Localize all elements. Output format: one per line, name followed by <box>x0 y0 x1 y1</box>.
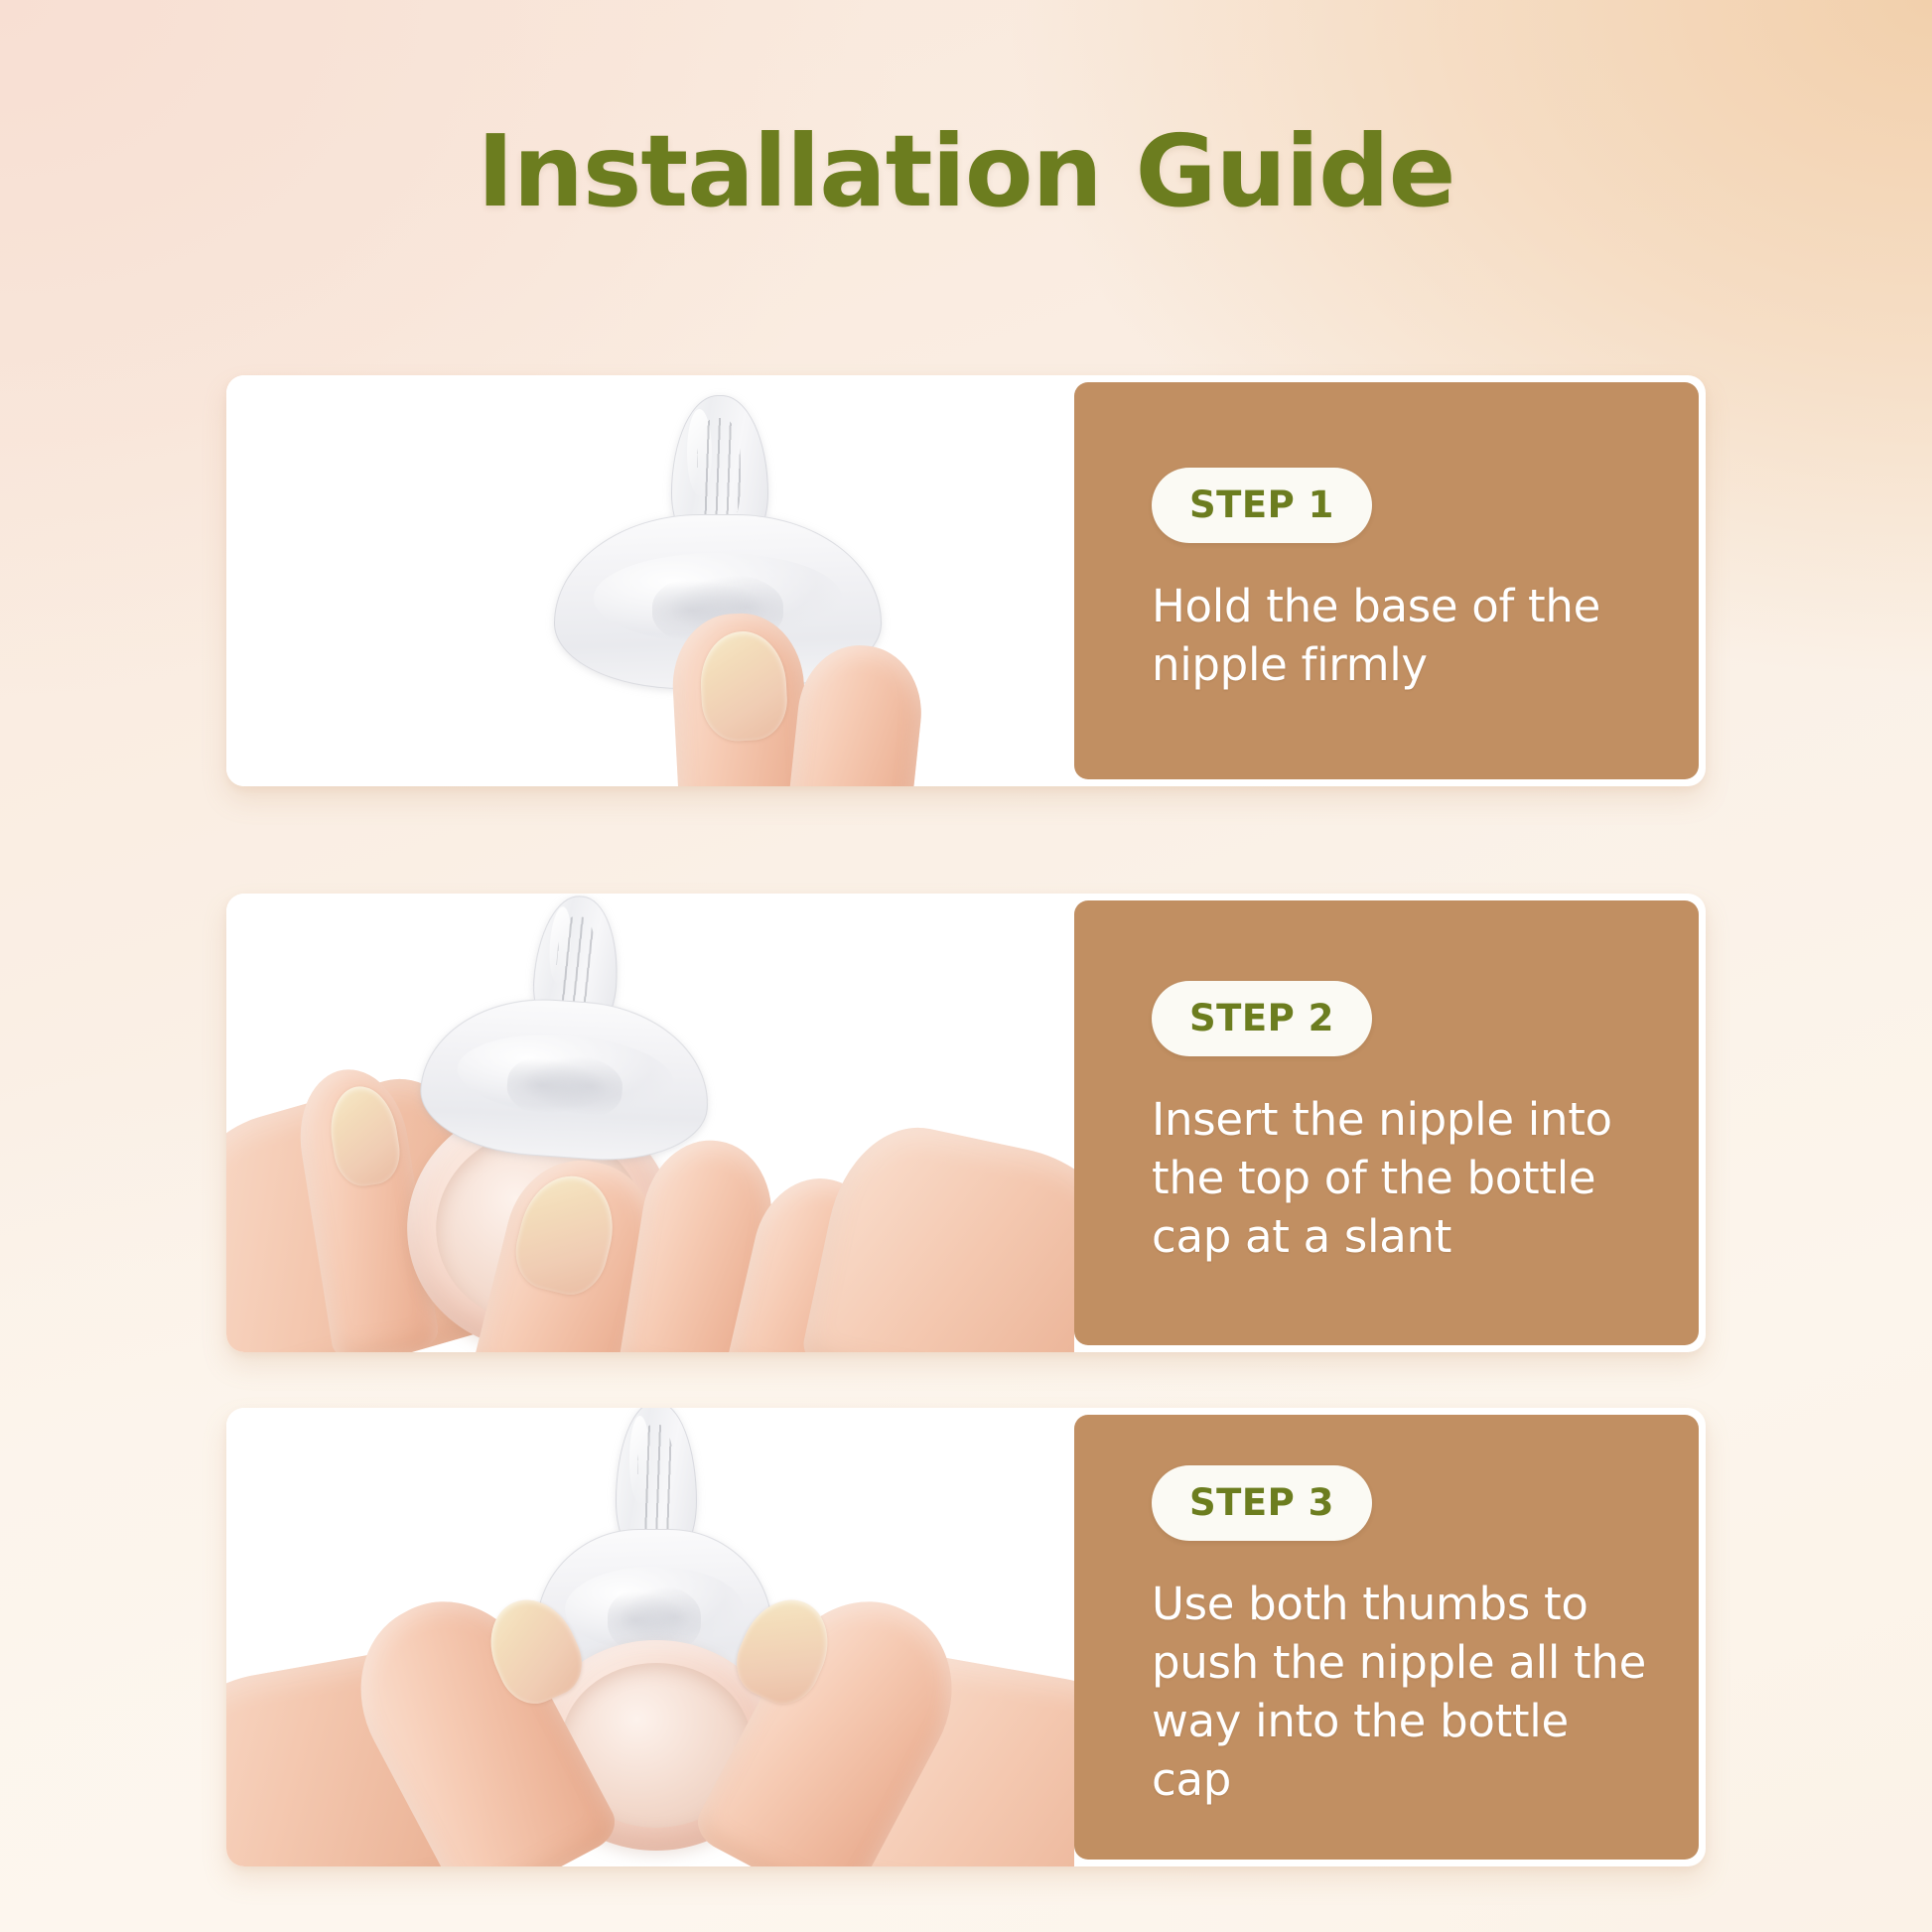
page-title: Installation Guide <box>0 117 1932 226</box>
nipple-illustration <box>416 894 722 1172</box>
step-3-photo <box>226 1408 1074 1866</box>
step-2-photo <box>226 894 1074 1352</box>
installation-guide-page: Installation Guide STEP 1 Hold the base … <box>0 0 1932 1932</box>
step-card-3: STEP 3 Use both thumbs to push the nippl… <box>226 1408 1706 1866</box>
step-card-1: STEP 1 Hold the base of the nipple firml… <box>226 375 1706 786</box>
step-1-text-panel: STEP 1 Hold the base of the nipple firml… <box>1074 382 1699 779</box>
step-1-description: Hold the base of the nipple firmly <box>1152 577 1659 694</box>
step-2-text-panel: STEP 2 Insert the nipple into the top of… <box>1074 900 1699 1345</box>
step-1-photo <box>226 375 1074 786</box>
step-1-photo-stage <box>226 375 1074 786</box>
step-3-description: Use both thumbs to push the nipple all t… <box>1152 1575 1659 1809</box>
step-1-badge: STEP 1 <box>1152 468 1372 543</box>
step-3-text-panel: STEP 3 Use both thumbs to push the nippl… <box>1074 1415 1699 1860</box>
step-2-photo-stage <box>226 894 1074 1352</box>
step-3-badge: STEP 3 <box>1152 1465 1372 1541</box>
right-hand-palm <box>799 1113 1074 1352</box>
step-2-description: Insert the nipple into the top of the bo… <box>1152 1090 1659 1266</box>
step-3-photo-stage <box>226 1408 1074 1866</box>
step-2-badge: STEP 2 <box>1152 981 1372 1056</box>
step-card-2: STEP 2 Insert the nipple into the top of… <box>226 894 1706 1352</box>
